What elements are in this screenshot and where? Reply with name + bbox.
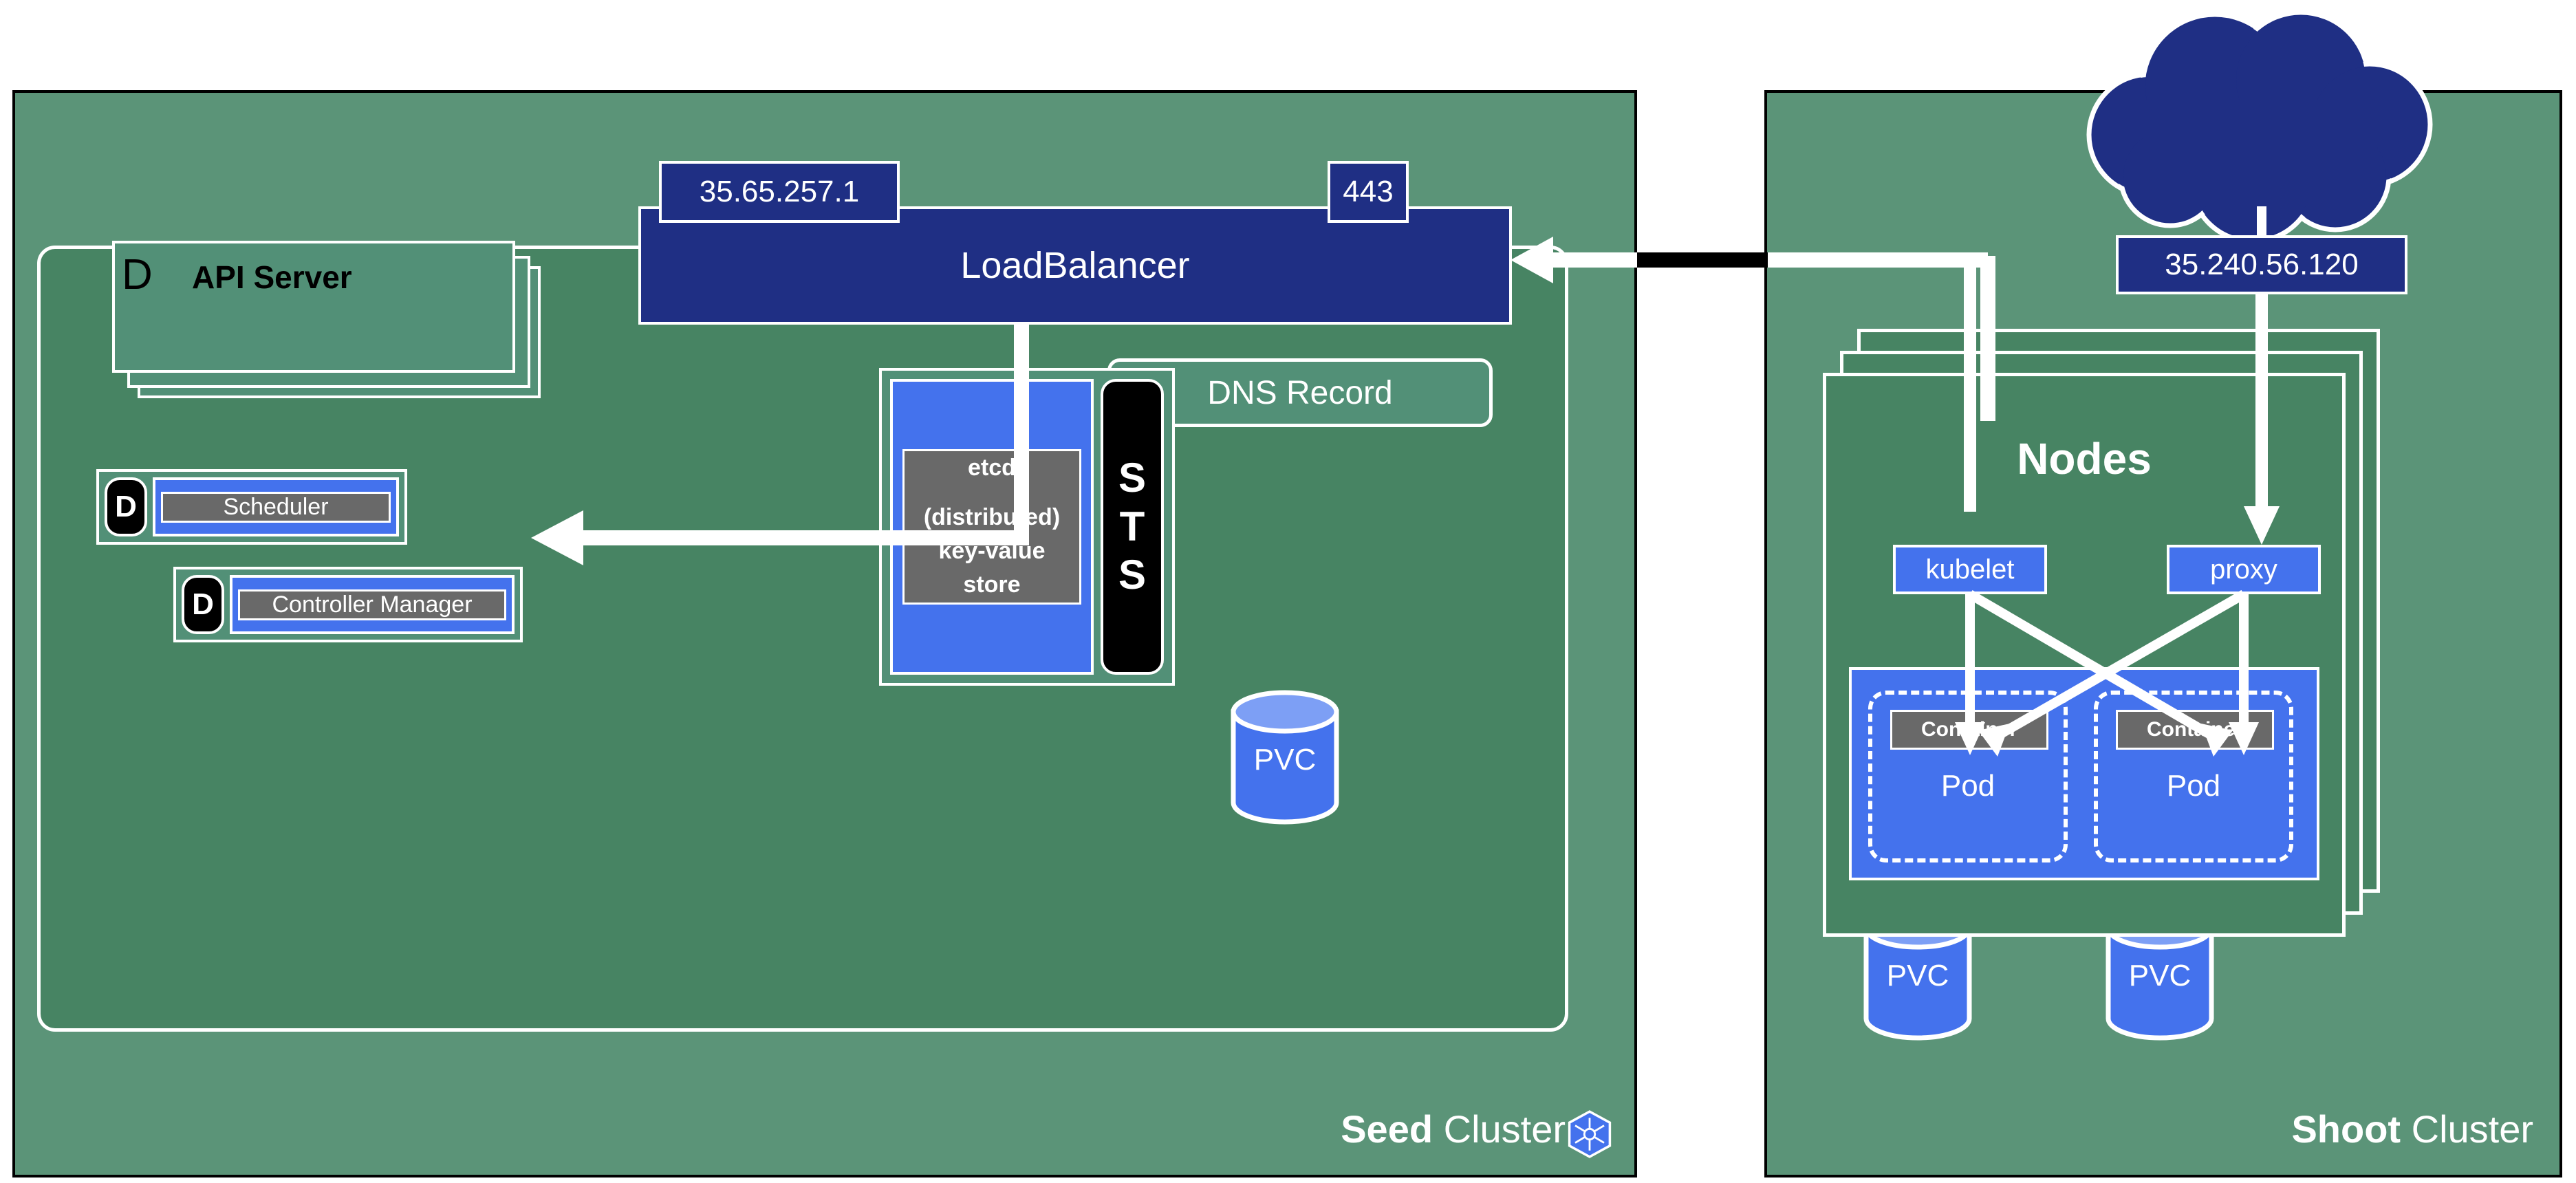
- pvc-label: PVC: [1230, 743, 1340, 777]
- shoot-label-rest: Cluster: [2401, 1107, 2533, 1151]
- container-box-1[interactable]: Container: [1890, 710, 2048, 750]
- cloud-icon: [2046, 4, 2452, 252]
- pod-wrapper: API Server: [184, 250, 360, 363]
- deployment-badge: D: [182, 575, 224, 634]
- nodes-title: Nodes: [1823, 433, 2346, 484]
- sts-letter-s1: S: [1118, 454, 1146, 503]
- container-box-2[interactable]: Container: [2116, 710, 2274, 750]
- pvc-label: PVC: [1863, 959, 1973, 993]
- pvc-label: PVC: [2105, 959, 2215, 993]
- seed-cluster-label: Seed Cluster: [1341, 1110, 1566, 1149]
- load-balancer-port-badge: 443: [1328, 161, 1409, 223]
- shoot-label-bold: Shoot: [2291, 1107, 2401, 1151]
- etcd-inner: etcd (distributed) key-value store: [902, 449, 1081, 604]
- sts-letter-t: T: [1120, 503, 1145, 552]
- controller-manager-label: Controller Manager: [238, 589, 506, 620]
- seed-label-bold: Seed: [1341, 1107, 1433, 1151]
- pod-label-1: Pod: [1872, 769, 2064, 803]
- etcd-box[interactable]: etcd (distributed) key-value store S T S: [879, 368, 1175, 686]
- proxy-box[interactable]: proxy: [2167, 545, 2321, 594]
- etcd-line-4: store: [963, 568, 1020, 602]
- pvc-cylinder-seed[interactable]: PVC: [1230, 689, 1340, 825]
- pod-wrapper: Controller Manager: [230, 575, 515, 634]
- etcd-line-1: etcd: [968, 451, 1016, 485]
- sts-letter-s2: S: [1118, 551, 1146, 600]
- api-server-label: API Server: [192, 259, 352, 296]
- pod-wrapper: Scheduler: [153, 477, 399, 536]
- pod-1[interactable]: Container Pod: [1868, 691, 2068, 862]
- scheduler-label: Scheduler: [161, 492, 391, 523]
- kubelet-box[interactable]: kubelet: [1893, 545, 2047, 594]
- pod-label-2: Pod: [2098, 769, 2289, 803]
- load-balancer-box[interactable]: LoadBalancer: [638, 206, 1512, 325]
- cloud-ip-badge: 35.240.56.120: [2116, 235, 2407, 294]
- deployment-badge: D: [122, 250, 177, 363]
- kubernetes-logo-icon: [1566, 1110, 1614, 1158]
- api-server-replica-1[interactable]: D API Server: [112, 241, 515, 373]
- pod-wrapper: etcd (distributed) key-value store: [890, 379, 1094, 675]
- controller-manager-box[interactable]: D Controller Manager: [173, 567, 523, 642]
- seed-label-rest: Cluster: [1433, 1107, 1566, 1151]
- pods-container: Container Pod Container Pod: [1849, 667, 2319, 880]
- deployment-badge: D: [105, 477, 147, 536]
- etcd-line-2: (distributed): [924, 501, 1060, 534]
- statefulset-badge: S T S: [1101, 379, 1164, 675]
- diagram-canvas: Seed Cluster LoadBalancer 35.65.257.1 44…: [0, 0, 2576, 1183]
- shoot-cluster-label: Shoot Cluster: [2291, 1110, 2533, 1149]
- scheduler-box[interactable]: D Scheduler: [96, 469, 407, 545]
- load-balancer-ip-badge: 35.65.257.1: [659, 161, 900, 223]
- etcd-line-3: key-value: [939, 534, 1046, 568]
- pod-2[interactable]: Container Pod: [2094, 691, 2293, 862]
